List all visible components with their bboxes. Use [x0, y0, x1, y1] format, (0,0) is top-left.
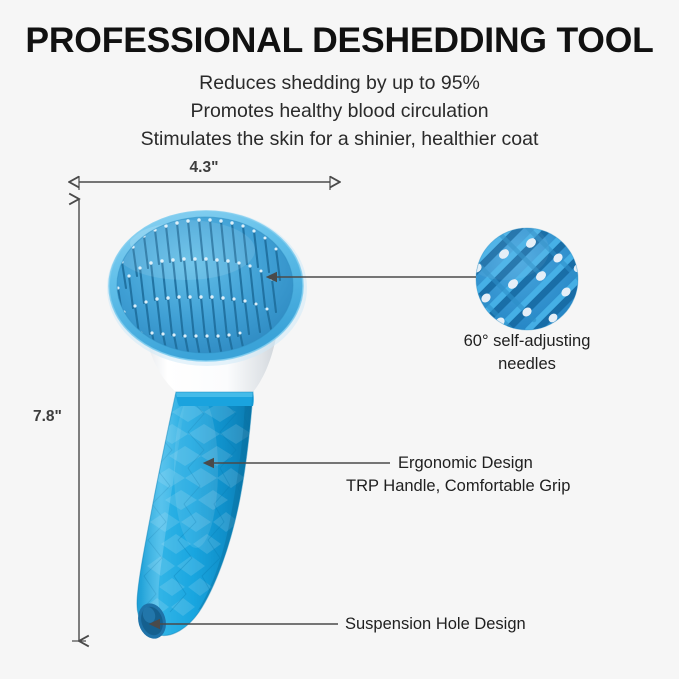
- callout-suspension-line-1: Suspension Hole Design: [345, 613, 526, 636]
- callout-needles: 60° self-adjusting needles: [464, 330, 591, 376]
- callout-ergonomic-line-2: TRP Handle, Comfortable Grip: [346, 475, 570, 498]
- page-title: PROFESSIONAL DESHEDDING TOOL: [0, 0, 679, 59]
- dimension-width-label: 4.3": [190, 159, 219, 177]
- subtitle-block: Reduces shedding by up to 95% Promotes h…: [0, 70, 679, 153]
- subtitle-line-2: Promotes healthy blood circulation: [0, 98, 679, 126]
- brush-handle: [137, 392, 254, 636]
- dimension-height: [72, 199, 86, 641]
- callout-ergonomic: Ergonomic Design TRP Handle, Comfortable…: [398, 452, 622, 498]
- suspension-hole: [134, 600, 170, 642]
- infographic-page: PROFESSIONAL DESHEDDING TOOL Reduces she…: [0, 0, 679, 679]
- callout-ergonomic-line-1: Ergonomic Design: [398, 452, 622, 475]
- needles-zoom-circle: [455, 197, 599, 351]
- handle-texture: [140, 392, 253, 629]
- subtitle-line-3: Stimulates the skin for a shinier, healt…: [0, 126, 679, 154]
- callout-needles-line-1: 60° self-adjusting: [464, 330, 591, 353]
- header: PROFESSIONAL DESHEDDING TOOL Reduces she…: [0, 0, 679, 153]
- callout-suspension: Suspension Hole Design: [345, 613, 526, 636]
- leader-lines: [160, 277, 476, 624]
- dimension-height-label: 7.8": [33, 408, 62, 426]
- dimension-width: [79, 176, 330, 190]
- needle-field: [115, 218, 280, 357]
- callout-needles-line-2: needles: [464, 353, 591, 376]
- subtitle-line-1: Reduces shedding by up to 95%: [0, 70, 679, 98]
- brush-neck: [141, 309, 281, 404]
- brush-head: [107, 210, 307, 366]
